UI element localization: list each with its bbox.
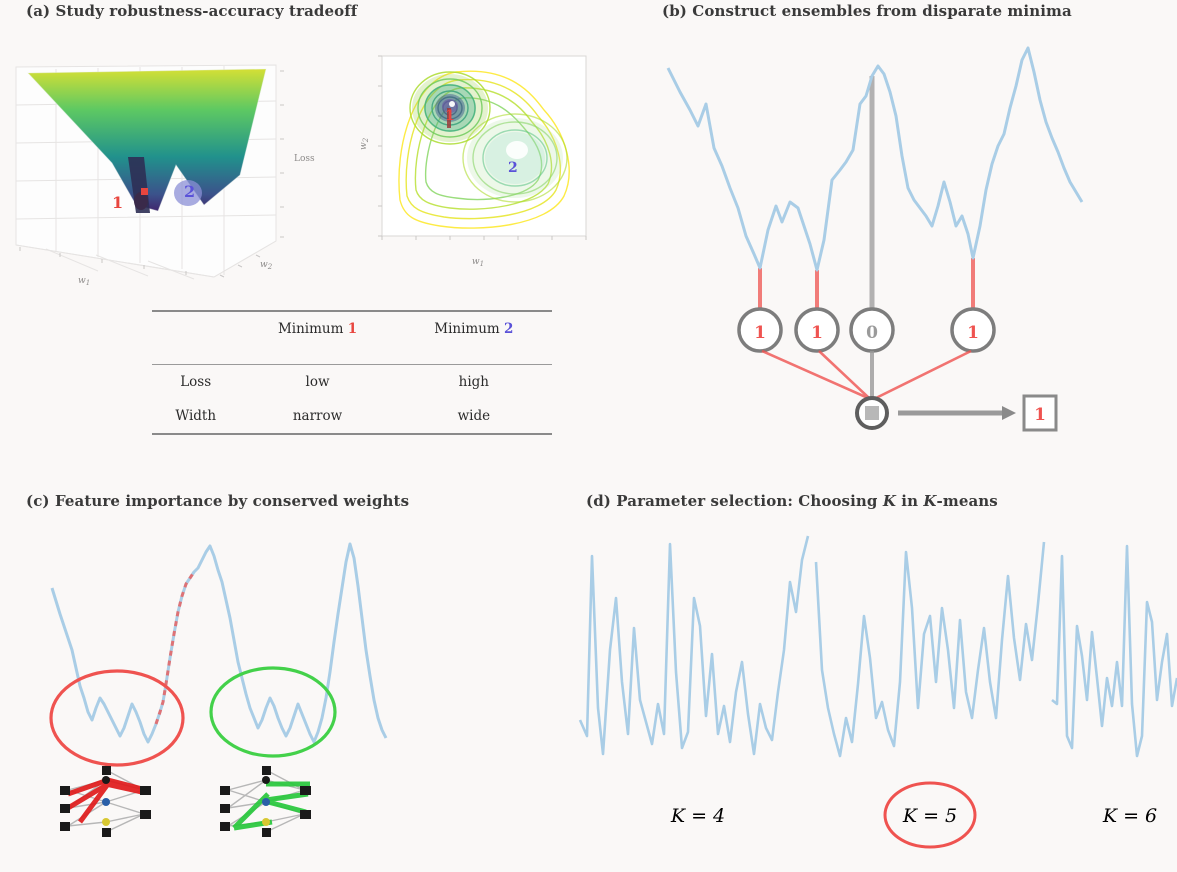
network-red-nodes [60, 766, 151, 837]
table-row: Loss low high [152, 365, 552, 400]
ensemble-node-2[interactable]: 1 [796, 309, 838, 351]
ensemble-loss-curve [668, 48, 1082, 270]
contour-minimum-2-label: 2 [508, 160, 518, 176]
feature-importance-diagram [10, 522, 410, 862]
network-red-glyph[interactable] [60, 766, 151, 837]
basin-1-marker [141, 188, 148, 195]
ensemble-output-box[interactable]: 1 [1024, 396, 1056, 430]
kmeans-curve-k4 [580, 536, 808, 754]
panel-d-title: (d) Parameter selection: Choosing K in K… [586, 492, 998, 510]
minima-comparison-table: Minimum 1 Minimum 2 Loss low high Width … [152, 310, 552, 435]
output-arrow [898, 406, 1016, 420]
panel-c-title: (c) Feature importance by conserved weig… [26, 492, 409, 510]
node-4-value: 1 [967, 323, 979, 343]
ensemble-diagram: 1 1 0 1 [610, 30, 1170, 450]
node-2-value: 1 [811, 323, 823, 343]
minimum-2-badge: 2 [504, 321, 513, 337]
kmeans-selection-diagram: K = 4 K = 5 K = 6 [570, 522, 1177, 862]
network-green-glyph[interactable] [220, 766, 311, 837]
node-3-value: 0 [866, 323, 878, 343]
panel-d-parameter-selection: (d) Parameter selection: Choosing K in K… [570, 470, 1177, 872]
ensemble-node-4[interactable]: 1 [952, 309, 994, 351]
panel-a-title: (a) Study robustness-accuracy tradeoff [26, 2, 357, 20]
table-header-minimum-1: Minimum 1 [239, 311, 395, 346]
panel-b-title: (b) Construct ensembles from disparate m… [662, 2, 1072, 20]
surface-minimum-1-label: 1 [112, 193, 123, 212]
table-header-minimum-2: Minimum 2 [396, 311, 552, 346]
ensemble-node-1[interactable]: 1 [739, 309, 781, 351]
contour-minimum-1-label: 1 [445, 108, 455, 124]
kmeans-curve-k5 [816, 542, 1044, 756]
panel-a-robustness-accuracy: (a) Study robustness-accuracy tradeoff [0, 0, 600, 470]
row-label-width: Width [152, 399, 239, 434]
loss-surface-3d-plot: 1 2 w1 w2 Loss [8, 45, 308, 290]
surface-ylabel: w2 [260, 260, 273, 271]
cell-width-minimum-1: narrow [239, 399, 395, 434]
surface-zlabel: Loss [294, 154, 315, 164]
conserved-dashed-segment [156, 572, 194, 724]
kmeans-label-k4: K = 4 [670, 805, 725, 827]
surface-xlabel: w1 [78, 276, 90, 287]
table-corner-cell [152, 311, 239, 346]
minimum-1-badge: 1 [348, 321, 357, 337]
kmeans-label-k6: K = 6 [1102, 805, 1157, 827]
kmeans-curve-k6 [1052, 546, 1177, 756]
ensemble-aggregator-node[interactable] [857, 398, 887, 428]
cell-loss-minimum-1: low [239, 365, 395, 400]
panel-b-ensemble-construction: (b) Construct ensembles from disparate m… [600, 0, 1177, 470]
contour-ylabel: w2 [359, 137, 370, 150]
conserved-region-green-ellipse[interactable] [211, 668, 335, 756]
cell-loss-minimum-2: high [396, 365, 552, 400]
aggregation-edges [762, 351, 971, 398]
contour-xlabel: w1 [472, 257, 484, 268]
output-value: 1 [1034, 405, 1046, 425]
cell-width-minimum-2: wide [396, 399, 552, 434]
loss-contour-plot: 1 2 w1 w2 [360, 50, 595, 280]
table-row: Width narrow wide [152, 399, 552, 434]
conserved-region-red-ellipse[interactable] [51, 671, 183, 765]
row-label-loss: Loss [152, 365, 239, 400]
ensemble-node-group: 1 1 0 1 [739, 309, 994, 351]
kmeans-label-k5: K = 5 [902, 805, 957, 827]
ensemble-node-3[interactable]: 0 [851, 309, 893, 351]
surface-minimum-2-label: 2 [184, 182, 195, 201]
panel-c-feature-importance: (c) Feature importance by conserved weig… [0, 470, 570, 872]
node-1-value: 1 [754, 323, 766, 343]
